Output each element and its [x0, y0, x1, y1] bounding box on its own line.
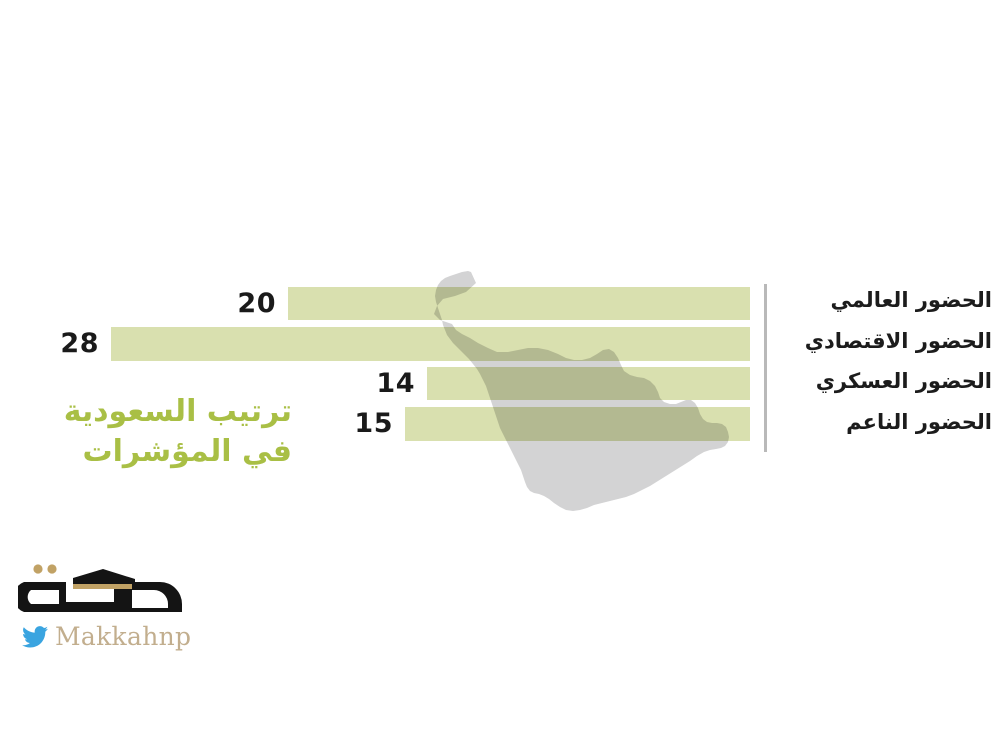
logo-glyph-meem-final: [132, 582, 182, 612]
category-label-soft-presence: الحضور الناعم: [846, 412, 992, 433]
infographic-canvas: 20 28 14 15 الحضور العالمي الحضور الاقتص…: [0, 0, 1000, 750]
bar-value-economic-presence: 28: [39, 330, 99, 357]
category-label-military-presence: الحضور العسكري: [816, 371, 992, 392]
headline-line-1: ترتيب السعودية: [0, 392, 292, 432]
bar-soft-presence: [405, 407, 750, 441]
bar-value-global-presence: 20: [216, 290, 276, 317]
bar-value-military-presence: 14: [355, 370, 415, 397]
logo-kiswah-band: [73, 584, 135, 589]
category-label-global-presence: الحضور العالمي: [830, 290, 992, 311]
logo-dot-right: [47, 564, 56, 573]
vertical-divider: [764, 284, 767, 452]
bar-global-presence: [288, 287, 750, 320]
category-label-economic-presence: الحضور الاقتصادي: [805, 331, 992, 352]
bar-military-presence: [427, 367, 750, 400]
logo-baseline: [24, 608, 182, 612]
logo-dot-left: [33, 564, 42, 573]
bar-value-soft-presence: 15: [333, 410, 393, 437]
logo-glyph-taa: [18, 582, 66, 612]
headline: ترتيب السعودية في المؤشرات: [0, 392, 292, 471]
headline-line-2: في المؤشرات: [0, 432, 292, 472]
publisher-logo[interactable]: Makkahnp: [18, 560, 238, 649]
bar-economic-presence: [111, 327, 750, 361]
makkah-wordmark-logo[interactable]: [18, 560, 198, 622]
twitter-handle-text: Makkahnp: [55, 624, 191, 649]
twitter-handle[interactable]: Makkahnp: [22, 624, 238, 649]
twitter-bird-icon: [22, 626, 48, 648]
